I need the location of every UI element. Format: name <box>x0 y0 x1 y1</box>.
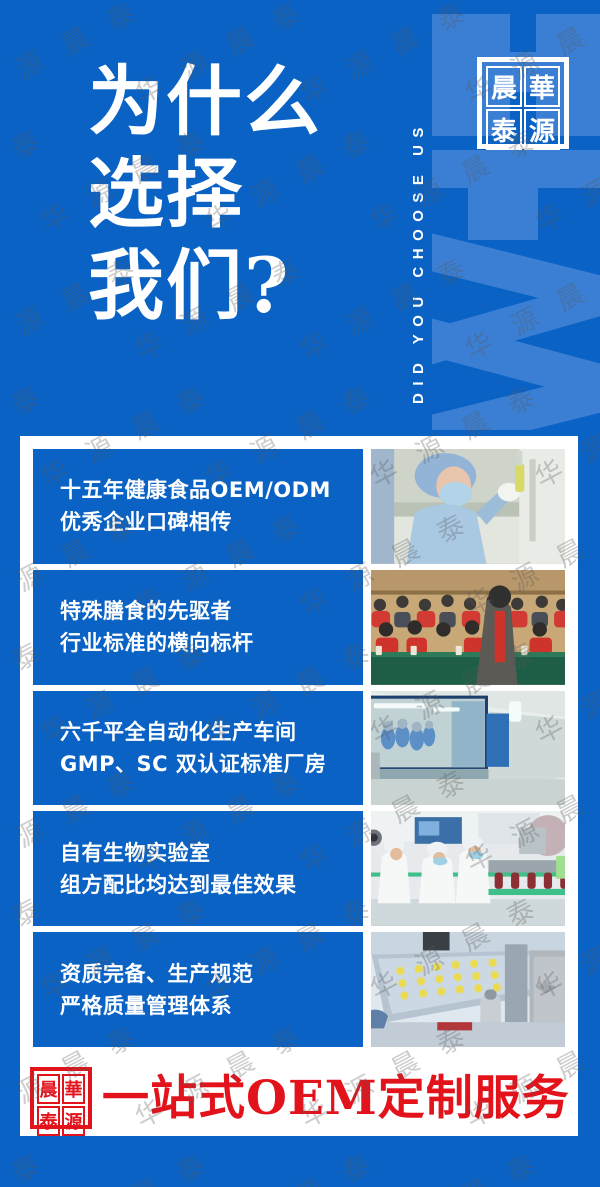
feature-3-line-2: GMP、SC 双认证标准厂房 <box>60 748 363 780</box>
feature-4-line-1: 自有生物实验室 <box>60 837 363 869</box>
seal-char-1: 晨 <box>486 66 522 107</box>
seal-bottom-char-2: 華 <box>62 1074 85 1104</box>
feature-row: 特殊膳食的先驱者 行业标准的横向标杆 <box>33 570 565 685</box>
feature-card-4: 自有生物实验室 组方配比均达到最佳效果 <box>33 811 363 926</box>
vertical-english-subtitle: DID YOU CHOOSE US <box>410 0 440 404</box>
feature-1-line-2: 优秀企业口碑相传 <box>60 506 363 538</box>
feature-row: 六千平全自动化生产车间 GMP、SC 双认证标准厂房 <box>33 691 565 806</box>
feature-row: 资质完备、生产规范 严格质量管理体系 <box>33 932 565 1047</box>
seal-char-2: 華 <box>524 66 560 107</box>
seal-char-3: 泰 <box>486 109 522 150</box>
seal-char-4: 源 <box>524 109 560 150</box>
features-panel: 十五年健康食品OEM/ODM 优秀企业口碑相传 <box>20 436 578 1060</box>
feature-5-line-1: 资质完备、生产规范 <box>60 958 363 990</box>
feature-2-line-1: 特殊膳食的先驱者 <box>60 595 363 627</box>
poster-root: 为什么 选择 我们? DID YOU CHOOSE US 晨 華 泰 源 十五年… <box>0 0 600 1187</box>
photo-cleanroom-corridor <box>371 691 565 806</box>
title-line-1: 为什么 <box>88 56 322 148</box>
seal-bottom-char-4: 源 <box>62 1106 85 1136</box>
feature-row: 自有生物实验室 组方配比均达到最佳效果 <box>33 811 565 926</box>
seal-bottom-char-3: 泰 <box>37 1106 60 1136</box>
feature-card-3: 六千平全自动化生产车间 GMP、SC 双认证标准厂房 <box>33 691 363 806</box>
watermark-text: 华 源 晨 泰 <box>0 1140 53 1187</box>
feature-2-line-2: 行业标准的横向标杆 <box>60 627 363 659</box>
photo-conference-audience <box>371 570 565 685</box>
logo-seal-top: 晨 華 泰 源 <box>477 57 569 149</box>
photo-production-line-workers <box>371 811 565 926</box>
page-title: 为什么 选择 我们? <box>88 56 322 332</box>
watermark-text: 华 源 晨 泰 <box>197 1140 383 1187</box>
feature-3-line-1: 六千平全自动化生产车间 <box>60 716 363 748</box>
feature-card-2: 特殊膳食的先驱者 行业标准的横向标杆 <box>33 570 363 685</box>
photo-blister-packing-machine <box>371 932 565 1047</box>
feature-5-line-2: 严格质量管理体系 <box>60 990 363 1022</box>
watermark-text: 华 源 晨 泰 <box>457 244 600 368</box>
watermark-text: 华 源 晨 泰 <box>527 1140 600 1187</box>
feature-1-line-1: 十五年健康食品OEM/ODM <box>60 474 363 506</box>
watermark-text: 华 源 晨 泰 <box>0 116 53 240</box>
seal-bottom-char-1: 晨 <box>37 1074 60 1104</box>
banner-headline: 一站式OEM定制服务 <box>102 1075 570 1122</box>
feature-4-line-2: 组方配比均达到最佳效果 <box>60 869 363 901</box>
logo-seal-bottom: 晨 華 泰 源 <box>30 1067 92 1129</box>
feature-row: 十五年健康食品OEM/ODM 优秀企业口碑相传 <box>33 449 565 564</box>
photo-lab-technician <box>371 449 565 564</box>
title-line-3: 我们? <box>88 240 322 332</box>
feature-card-5: 资质完备、生产规范 严格质量管理体系 <box>33 932 363 1047</box>
watermark-text: 华 源 晨 泰 <box>362 1140 548 1187</box>
bottom-banner: 晨 華 泰 源 一站式OEM定制服务 <box>20 1060 578 1136</box>
title-line-2: 选择 <box>88 148 322 240</box>
watermark-text: 华 源 晨 泰 <box>32 1140 218 1187</box>
feature-card-1: 十五年健康食品OEM/ODM 优秀企业口碑相传 <box>33 449 363 564</box>
